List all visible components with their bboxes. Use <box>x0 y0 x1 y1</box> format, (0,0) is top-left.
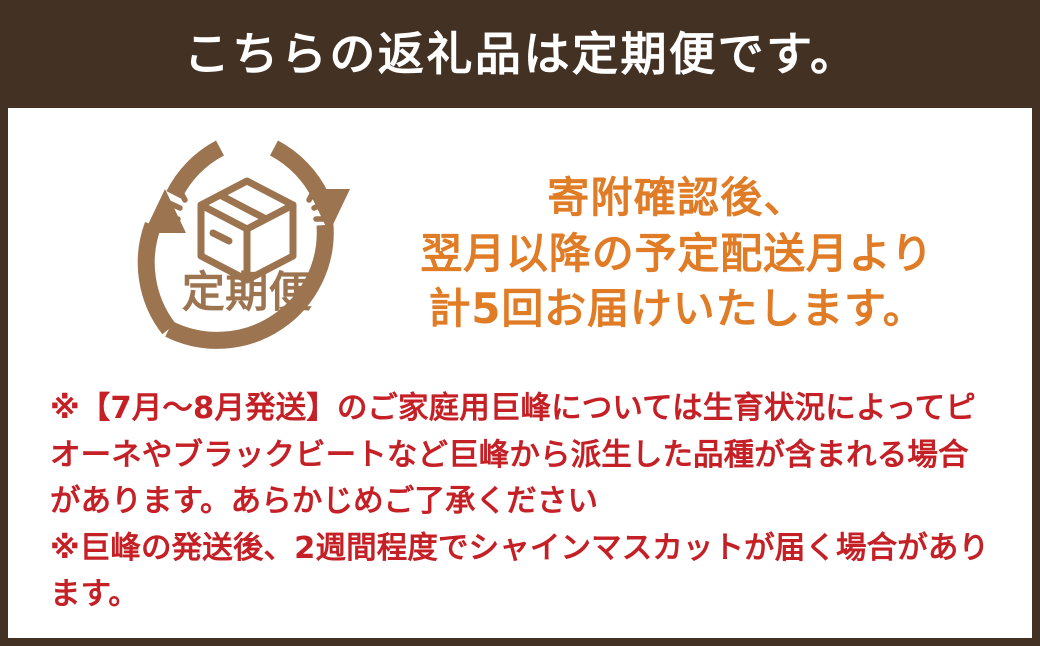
note-line-5: ます。 <box>50 572 1002 619</box>
parcel-box <box>201 181 293 280</box>
banner-header-band: こちらの返礼品は定期便です。 <box>0 0 1040 108</box>
page-title: こちらの返礼品は定期便です。 <box>181 31 858 77</box>
cycle-arrow-graphic <box>122 129 372 379</box>
headline-line-3: 計5回お届けいたします。 <box>366 281 988 337</box>
headline-line-1: 寄附確認後、 <box>366 170 988 226</box>
teikibin-notice-banner: こちらの返礼品は定期便です。 <box>0 0 1040 646</box>
note-line-2: オーネやブラックビートなど巨峰から派生した品種が含まれる場合 <box>50 433 1002 480</box>
headline-line-2: 翌月以降の予定配送月より <box>366 226 988 282</box>
subscription-icon-caption: 定期便 <box>122 272 372 315</box>
note-line-4: ※巨峰の発送後、2週間程度でシャインマスカットが届く場合があり <box>50 526 1002 573</box>
notes-block: ※【7月〜8月発送】のご家庭用巨峰については生育状況によってピ オーネやブラック… <box>50 386 1002 619</box>
hero-row: 定期便 寄附確認後、 翌月以降の予定配送月より 計5回お届けいたします。 <box>0 126 1040 381</box>
note-line-1: ※【7月〜8月発送】のご家庭用巨峰については生育状況によってピ <box>50 386 1002 433</box>
note-line-3: があります。あらかじめご了承ください <box>50 479 1002 526</box>
subscription-cycle-icon: 定期便 <box>122 129 372 379</box>
headline-block: 寄附確認後、 翌月以降の予定配送月より 計5回お届けいたします。 <box>366 170 1040 338</box>
